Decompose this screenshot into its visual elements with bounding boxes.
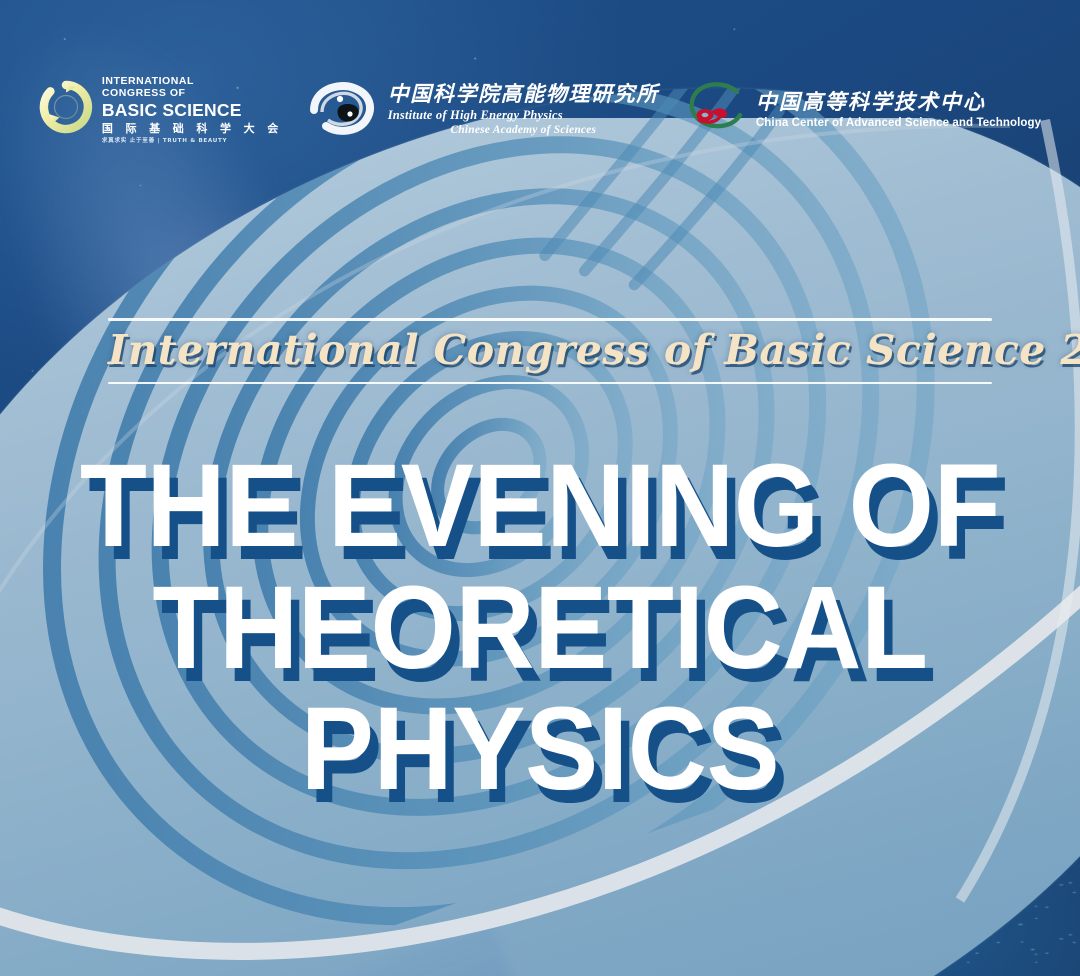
icbs-line-cn: 国 际 基 础 科 学 大 会 [102,122,283,137]
ccast-c-loop-icon [685,82,747,139]
logo-icbs: INTERNATIONAL CONGRESS OF BASIC SCIENCE … [39,75,283,145]
logo-ccast: 中国高等科学技术中心 China Center of Advanced Scie… [685,82,1041,139]
headline-line-2: THEORETICAL [38,574,1042,684]
circular-arrow-icon [39,80,93,139]
ccast-line-en: China Center of Advanced Science and Tec… [756,116,1041,130]
headline-line-3: PHYSICS [38,695,1042,805]
icbs-line-1: INTERNATIONAL [102,75,283,87]
ccast-line-cn: 中国高等科学技术中心 [756,90,1041,113]
icbs-tagline: 求真求实 止于至善 | TRUTH & BEAUTY [102,138,283,145]
icbs-line-3: BASIC SCIENCE [102,101,283,121]
ihep-line-cn: 中国科学院高能物理研究所 [388,82,659,105]
script-title: International Congress of Basic Science … [108,321,992,382]
logo-icbs-text: INTERNATIONAL CONGRESS OF BASIC SCIENCE … [102,75,283,145]
poster-canvas: INTERNATIONAL CONGRESS OF BASIC SCIENCE … [0,0,1080,976]
main-headline: THE EVENING OF THEORETICAL PHYSICS [0,452,1080,805]
icbs-line-2: CONGRESS OF [102,87,283,99]
logo-row: INTERNATIONAL CONGRESS OF BASIC SCIENCE … [0,74,1080,146]
headline-line-1: THE EVENING OF [38,452,1042,562]
logo-ihep: 中国科学院高能物理研究所 Institute of High Energy Ph… [309,80,659,141]
ihep-line-2: Chinese Academy of Sciences [388,123,659,137]
ihep-line-1: Institute of High Energy Physics [388,108,659,124]
rule-bottom [108,382,992,385]
taiji-swirl-icon [309,80,379,141]
logo-ccast-text: 中国高等科学技术中心 China Center of Advanced Scie… [756,90,1041,130]
logo-ihep-text: 中国科学院高能物理研究所 Institute of High Energy Ph… [388,82,659,137]
script-title-block: International Congress of Basic Science … [108,318,992,384]
